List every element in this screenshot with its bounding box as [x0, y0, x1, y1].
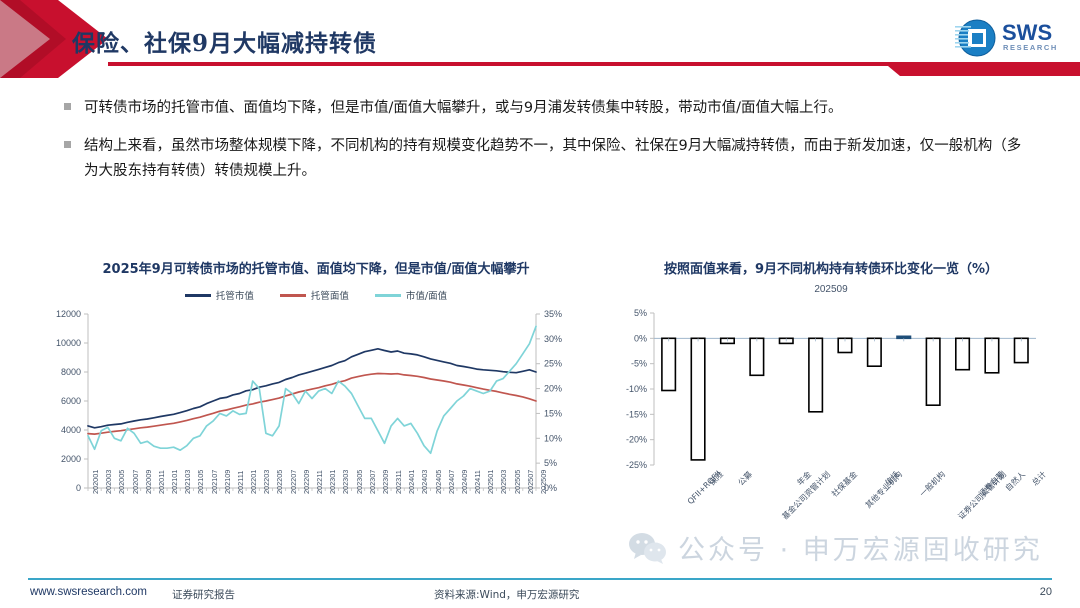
bar-chart-panel: 按照面值来看，9月不同机构持有转债环比变化一览（%） 202509 5%0%-5… [606, 258, 1056, 558]
bar [956, 338, 970, 369]
x-axis-tick-label: 202303 [341, 470, 350, 494]
legend-label: 托管市值 [216, 288, 254, 302]
x-axis-tick-label: 202103 [183, 470, 192, 494]
sws-logo-subtext: RESEARCH [1003, 43, 1058, 52]
bar [809, 338, 823, 412]
x-axis-tick-label: 202105 [196, 470, 205, 494]
x-axis-tick-label: 202109 [223, 470, 232, 494]
x-axis-tick-label: 202001 [91, 470, 100, 494]
x-axis-tick-label: 202311 [394, 470, 403, 494]
wechat-icon [628, 531, 668, 565]
bar [985, 338, 999, 373]
x-axis-tick-label: 202301 [328, 470, 337, 494]
x-axis-tick-label: 202003 [104, 470, 113, 494]
bar [1015, 338, 1029, 362]
y-axis-tick-label: 0% [634, 333, 647, 343]
chart-title-left: 2025年9月可转债市场的托管市值、面值均下降，但是市值/面值大幅攀升 [36, 258, 596, 277]
footer-source-label: 资料来源:Wind，申万宏源研究 [434, 587, 579, 602]
legend-label: 市值/面值 [406, 288, 447, 302]
x-axis-tick-label: 202305 [355, 470, 364, 494]
watermark: 公众号 · 申万宏源固收研究 [628, 528, 1043, 567]
legend-swatch [185, 294, 211, 297]
y-axis-tick-label: -10% [626, 384, 647, 394]
x-axis-tick-label: 202409 [460, 470, 469, 494]
bullet-square-icon [64, 141, 71, 148]
x-axis-tick-label: 202505 [513, 470, 522, 494]
bullet-text: 结构上来看，虽然市场整体规模下降，不同机构的持有规模变化趋势不一，其中保险、社保… [84, 134, 1024, 184]
y2-axis-tick-label: 30% [544, 334, 562, 344]
chart-subtitle-right: 202509 [606, 284, 1056, 295]
x-axis-tick-label: 202207 [289, 470, 298, 494]
y-axis-tick-label: -15% [626, 409, 647, 419]
y-axis-tick-label: -20% [626, 435, 647, 445]
line-chart-panel: 2025年9月可转债市场的托管市值、面值均下降，但是市值/面值大幅攀升 托管市值… [36, 258, 596, 558]
sws-globe-icon [954, 16, 998, 60]
y-axis-tick-label: 4000 [61, 425, 81, 435]
x-axis-tick-label: 202111 [236, 471, 245, 494]
bar-chart-svg: 5%0%-5%-10%-15%-20%-25% [606, 305, 1056, 555]
bar [897, 336, 911, 338]
x-axis-tick-label: 202307 [368, 470, 377, 494]
page-footer: www.swsresearch.com 证券研究报告 资料来源:Wind，申万宏… [0, 582, 1080, 608]
x-axis-tick-label: 202007 [131, 470, 140, 494]
y2-axis-tick-label: 15% [544, 408, 562, 418]
x-axis-tick-label: 202201 [249, 470, 258, 494]
sws-research-logo: SWS RESEARCH [954, 14, 1066, 64]
x-axis-tick-label: 202203 [262, 470, 271, 494]
y-axis-tick-label: 10000 [56, 338, 81, 348]
watermark-text: 公众号 · 申万宏源固收研究 [678, 528, 1043, 567]
legend-swatch [280, 294, 306, 297]
y2-axis-tick-label: 5% [544, 458, 557, 468]
x-axis-tick-label: 202309 [381, 470, 390, 494]
x-axis-tick-label: 202509 [539, 470, 548, 494]
x-axis-tick-label: 202401 [407, 470, 416, 494]
y-axis-tick-label: 12000 [56, 309, 81, 319]
bar [691, 338, 705, 460]
line-series-托管面值 [88, 374, 536, 435]
bar [868, 338, 882, 366]
x-axis-tick-label: 202405 [434, 470, 443, 494]
page-title: 保险、社保9月大幅减持转债 [72, 24, 377, 58]
bullet-list: 可转债市场的托管市值、面值均下降，但是市值/面值大幅攀升，或与9月浦发转债集中转… [64, 96, 1024, 197]
x-axis-tick-label: 202407 [447, 470, 456, 494]
y-axis-tick-label: 8000 [61, 367, 81, 377]
list-item: 结构上来看，虽然市场整体规模下降，不同机构的持有规模变化趋势不一，其中保险、社保… [64, 134, 1024, 184]
bar [750, 338, 764, 375]
bar [926, 338, 940, 405]
y-axis-tick-label: 5% [634, 308, 647, 318]
legend-item-0[interactable]: 托管市值 [185, 288, 254, 302]
x-axis-tick-label: 202011 [157, 470, 166, 494]
legend-swatch [375, 294, 401, 297]
bullet-text: 可转债市场的托管市值、面值均下降，但是市值/面值大幅攀升，或与9月浦发转债集中转… [84, 96, 843, 121]
y-axis-tick-label: 2000 [61, 454, 81, 464]
x-axis-tick-label: 202209 [302, 470, 311, 494]
y2-axis-tick-label: 10% [544, 433, 562, 443]
footer-divider [28, 578, 1052, 580]
bar [662, 338, 676, 390]
x-axis-tick-label: 202009 [144, 470, 153, 494]
x-axis-tick-label: 202507 [526, 470, 535, 494]
footer-report-label: 证券研究报告 [172, 587, 235, 602]
y-axis-tick-label: 0 [76, 483, 81, 493]
legend-label: 托管面值 [311, 288, 349, 302]
x-axis-tick-label: 202503 [499, 470, 508, 494]
x-axis-tick-label: 202005 [117, 470, 126, 494]
x-axis-tick-label: 202101 [170, 470, 179, 494]
y2-axis-tick-label: 20% [544, 384, 562, 394]
y2-axis-tick-label: 35% [544, 309, 562, 319]
line-chart-svg: 0200040006000800010000120000%5%10%15%20%… [36, 308, 596, 554]
chart-title-right: 按照面值来看，9月不同机构持有转债环比变化一览（%） [606, 258, 1056, 277]
legend-item-2[interactable]: 市值/面值 [375, 288, 447, 302]
legend-item-1[interactable]: 托管面值 [280, 288, 349, 302]
page-header: 保险、社保9月大幅减持转债 SWS RESEARCH [0, 0, 1080, 78]
chart-legend-left: 托管市值托管面值市值/面值 [36, 288, 596, 302]
x-axis-tick-label: 202107 [210, 470, 219, 494]
y2-axis-tick-label: 25% [544, 359, 562, 369]
footer-website-link[interactable]: www.swsresearch.com [30, 586, 147, 598]
bar-chart-plot-area: 5%0%-5%-10%-15%-20%-25%QFII+RQFII保险公募基金公… [606, 305, 1056, 555]
y-axis-tick-label: -5% [631, 359, 647, 369]
x-axis-tick-label: 202411 [473, 470, 482, 494]
x-axis-tick-label: 202211 [315, 470, 324, 494]
line-chart-plot-area: 0200040006000800010000120000%5%10%15%20%… [36, 308, 596, 554]
y-axis-tick-label: -25% [626, 460, 647, 470]
x-axis-tick-label: 202205 [275, 470, 284, 494]
bullet-square-icon [64, 103, 71, 110]
footer-page-number: 20 [1040, 586, 1052, 598]
list-item: 可转债市场的托管市值、面值均下降，但是市值/面值大幅攀升，或与9月浦发转债集中转… [64, 96, 1024, 121]
x-axis-tick-label: 202403 [420, 470, 429, 494]
y-axis-tick-label: 6000 [61, 396, 81, 406]
x-axis-tick-label: 202501 [486, 470, 495, 494]
